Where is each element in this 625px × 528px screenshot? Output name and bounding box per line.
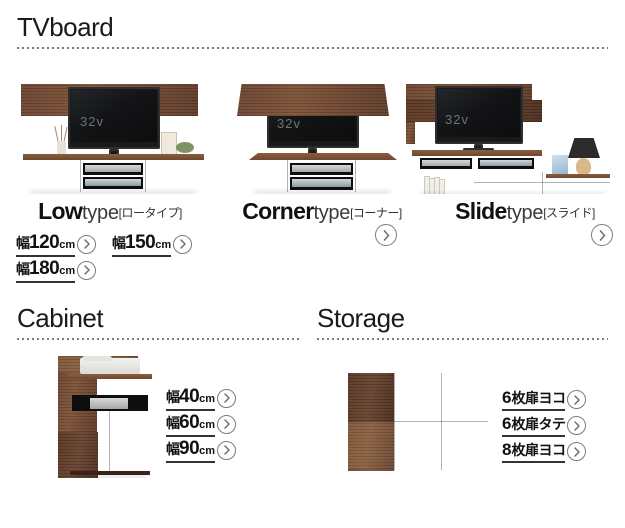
reed-diffuser-sticks xyxy=(61,125,62,142)
width-number: 90 xyxy=(179,438,199,459)
floor-shadow xyxy=(420,193,605,194)
board-top-surface xyxy=(412,150,542,156)
width-prefix: 幅 xyxy=(166,389,179,405)
door-label: 枚扉ヨコ xyxy=(511,442,565,458)
chevron-right-icon[interactable] xyxy=(217,441,236,460)
width-unit: cm xyxy=(155,239,171,251)
width-number: 180 xyxy=(29,258,59,279)
cabinet-divider xyxy=(17,337,302,340)
width-prefix: 幅 xyxy=(166,441,179,457)
size-link-text: 幅60cm xyxy=(166,412,215,437)
product-title-corner-type: Cornertype[コーナー] xyxy=(222,200,422,223)
width-number: 150 xyxy=(125,232,155,253)
av-device xyxy=(85,165,141,172)
storage-link-text: 8枚扉ヨコ xyxy=(502,440,565,463)
storage-divider xyxy=(317,337,608,340)
tv-size-label: 32v xyxy=(277,116,301,131)
chevron-right-icon[interactable] xyxy=(173,235,192,254)
product-name-kana: [スライド] xyxy=(543,206,595,220)
size-link-low-120[interactable]: 幅120cm xyxy=(16,232,96,257)
product-name-kana: [ロータイプ] xyxy=(119,206,182,220)
picture-frame xyxy=(161,132,177,155)
cabinet-title: Cabinet xyxy=(17,305,103,331)
floor-shadow xyxy=(255,191,391,194)
size-link-text: 幅40cm xyxy=(166,386,215,411)
product-image-storage[interactable] xyxy=(348,373,488,471)
door-label: 枚扉ヨコ xyxy=(511,390,565,406)
chevron-right-icon xyxy=(598,230,607,241)
section-heading-storage: Storage xyxy=(317,305,405,331)
size-link-text: 幅150cm xyxy=(112,232,171,257)
product-category-page: TVboard 32v Lowtype[ロータイプ] 幅120cm xyxy=(0,0,625,528)
width-unit: cm xyxy=(199,445,215,457)
product-name-type: type xyxy=(507,202,544,224)
size-link-cabinet-40[interactable]: 幅40cm xyxy=(166,386,236,411)
slide-type-detail-arrow[interactable] xyxy=(591,224,613,246)
chevron-right-icon[interactable] xyxy=(567,416,586,435)
storage-door-seam xyxy=(348,421,488,422)
book xyxy=(439,179,445,194)
product-image-slide-type[interactable]: 32v xyxy=(406,84,618,194)
board-panel-seam xyxy=(355,160,356,192)
storage-door xyxy=(348,469,394,471)
board-panel-seam xyxy=(80,160,81,192)
floor-shadow xyxy=(74,475,146,478)
board-top-surface xyxy=(546,174,610,178)
product-image-low-type[interactable]: 32v xyxy=(21,84,206,194)
product-title-slide-type: Slidetype[スライド] xyxy=(430,200,620,223)
width-unit: cm xyxy=(199,393,215,405)
width-unit: cm xyxy=(199,419,215,431)
storage-door xyxy=(348,421,394,469)
storage-door xyxy=(348,373,394,421)
section-heading-tvboard: TVboard xyxy=(17,14,113,40)
size-link-text: 幅90cm xyxy=(166,438,215,463)
product-name-type: type xyxy=(313,202,350,224)
tv-set: 32v xyxy=(435,86,523,144)
tvboard-title: TVboard xyxy=(17,14,113,40)
chevron-right-icon[interactable] xyxy=(567,442,586,461)
tvboard-divider xyxy=(17,46,608,49)
av-device xyxy=(85,179,141,186)
vase xyxy=(57,141,66,155)
floor-shadow xyxy=(31,191,196,194)
board-top-surface xyxy=(249,153,397,160)
size-link-text: 幅120cm xyxy=(16,232,75,257)
drawer-seam xyxy=(542,172,543,194)
width-prefix: 幅 xyxy=(112,235,125,251)
chevron-right-icon xyxy=(382,230,391,241)
fax-handset xyxy=(82,356,112,361)
product-image-cabinet[interactable] xyxy=(58,356,162,478)
width-number: 120 xyxy=(29,232,59,253)
storage-link-6-doors-tate[interactable]: 6枚扉タテ xyxy=(502,414,586,437)
board-panel-seam xyxy=(287,160,288,192)
size-link-text: 幅180cm xyxy=(16,258,75,283)
reed-diffuser-sticks xyxy=(54,126,58,142)
size-link-low-180[interactable]: 幅180cm xyxy=(16,258,96,283)
storage-title: Storage xyxy=(317,305,405,331)
board-panel-seam xyxy=(145,160,146,192)
product-name-type: type xyxy=(82,202,119,224)
door-label: 枚扉タテ xyxy=(511,416,565,432)
chevron-right-icon[interactable] xyxy=(217,389,236,408)
av-device xyxy=(90,398,128,409)
side-shelf xyxy=(406,122,415,144)
cabinet-door-seam xyxy=(109,411,110,471)
corner-type-detail-arrow[interactable] xyxy=(375,224,397,246)
width-unit: cm xyxy=(59,239,75,251)
chevron-right-icon[interactable] xyxy=(77,261,96,280)
cabinet-top xyxy=(68,374,152,379)
storage-link-text: 6枚扉ヨコ xyxy=(502,388,565,411)
product-name-main: Corner xyxy=(242,198,313,224)
table-lamp-base xyxy=(576,158,591,175)
width-prefix: 幅 xyxy=(16,235,29,251)
size-link-cabinet-60[interactable]: 幅60cm xyxy=(166,412,236,437)
tv-size-label: 32v xyxy=(80,114,104,129)
tv-size-label: 32v xyxy=(445,112,469,127)
board-top-surface xyxy=(23,154,204,160)
tv-set: 32v xyxy=(68,87,160,149)
width-number: 40 xyxy=(179,386,199,407)
product-title-low-type: Lowtype[ロータイプ] xyxy=(10,200,210,223)
av-device xyxy=(422,160,470,166)
chevron-right-icon[interactable] xyxy=(77,235,96,254)
product-image-corner-type[interactable]: 32v xyxy=(237,84,413,194)
board-body xyxy=(237,84,389,116)
width-prefix: 幅 xyxy=(16,261,29,277)
width-unit: cm xyxy=(59,265,75,277)
section-heading-cabinet: Cabinet xyxy=(17,305,103,331)
size-link-low-150[interactable]: 幅150cm xyxy=(112,232,192,257)
product-name-main: Slide xyxy=(455,198,506,224)
storage-link-6-doors-yoko[interactable]: 6枚扉ヨコ xyxy=(502,388,586,411)
av-device xyxy=(292,179,351,187)
plant xyxy=(176,142,194,153)
product-name-kana: [コーナー] xyxy=(350,206,402,220)
av-device xyxy=(480,160,532,166)
size-link-cabinet-90[interactable]: 幅90cm xyxy=(166,438,236,463)
chevron-right-icon[interactable] xyxy=(217,415,236,434)
width-prefix: 幅 xyxy=(166,415,179,431)
storage-link-8-doors-yoko[interactable]: 8枚扉ヨコ xyxy=(502,440,586,463)
chevron-right-icon[interactable] xyxy=(567,390,586,409)
av-device xyxy=(292,165,351,172)
reed-diffuser-sticks xyxy=(63,127,67,142)
product-name-main: Low xyxy=(38,198,82,224)
table-lamp-shade xyxy=(568,138,600,158)
storage-link-text: 6枚扉タテ xyxy=(502,414,565,437)
width-number: 60 xyxy=(179,412,199,433)
